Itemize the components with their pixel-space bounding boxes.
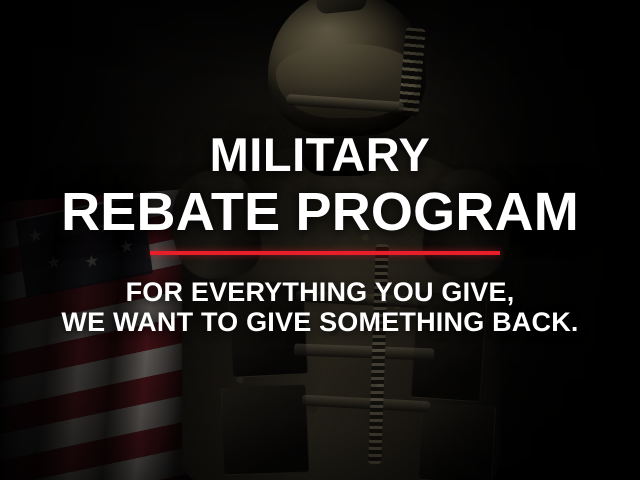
banner-copy: MILITARY REBATE PROGRAM FOR EVERYTHING Y…: [0, 0, 640, 480]
subheadline-line-2: WE WANT TO GIVE SOMETHING BACK.: [0, 309, 640, 336]
red-divider-rule: [150, 251, 500, 255]
military-rebate-program-banner: ★ ★ ★ ★ ★ ★: [0, 0, 640, 480]
subheadline-line-1: FOR EVERYTHING YOU GIVE,: [0, 279, 640, 306]
headline-line-1: MILITARY: [0, 131, 640, 178]
headline-line-2: REBATE PROGRAM: [0, 185, 640, 239]
